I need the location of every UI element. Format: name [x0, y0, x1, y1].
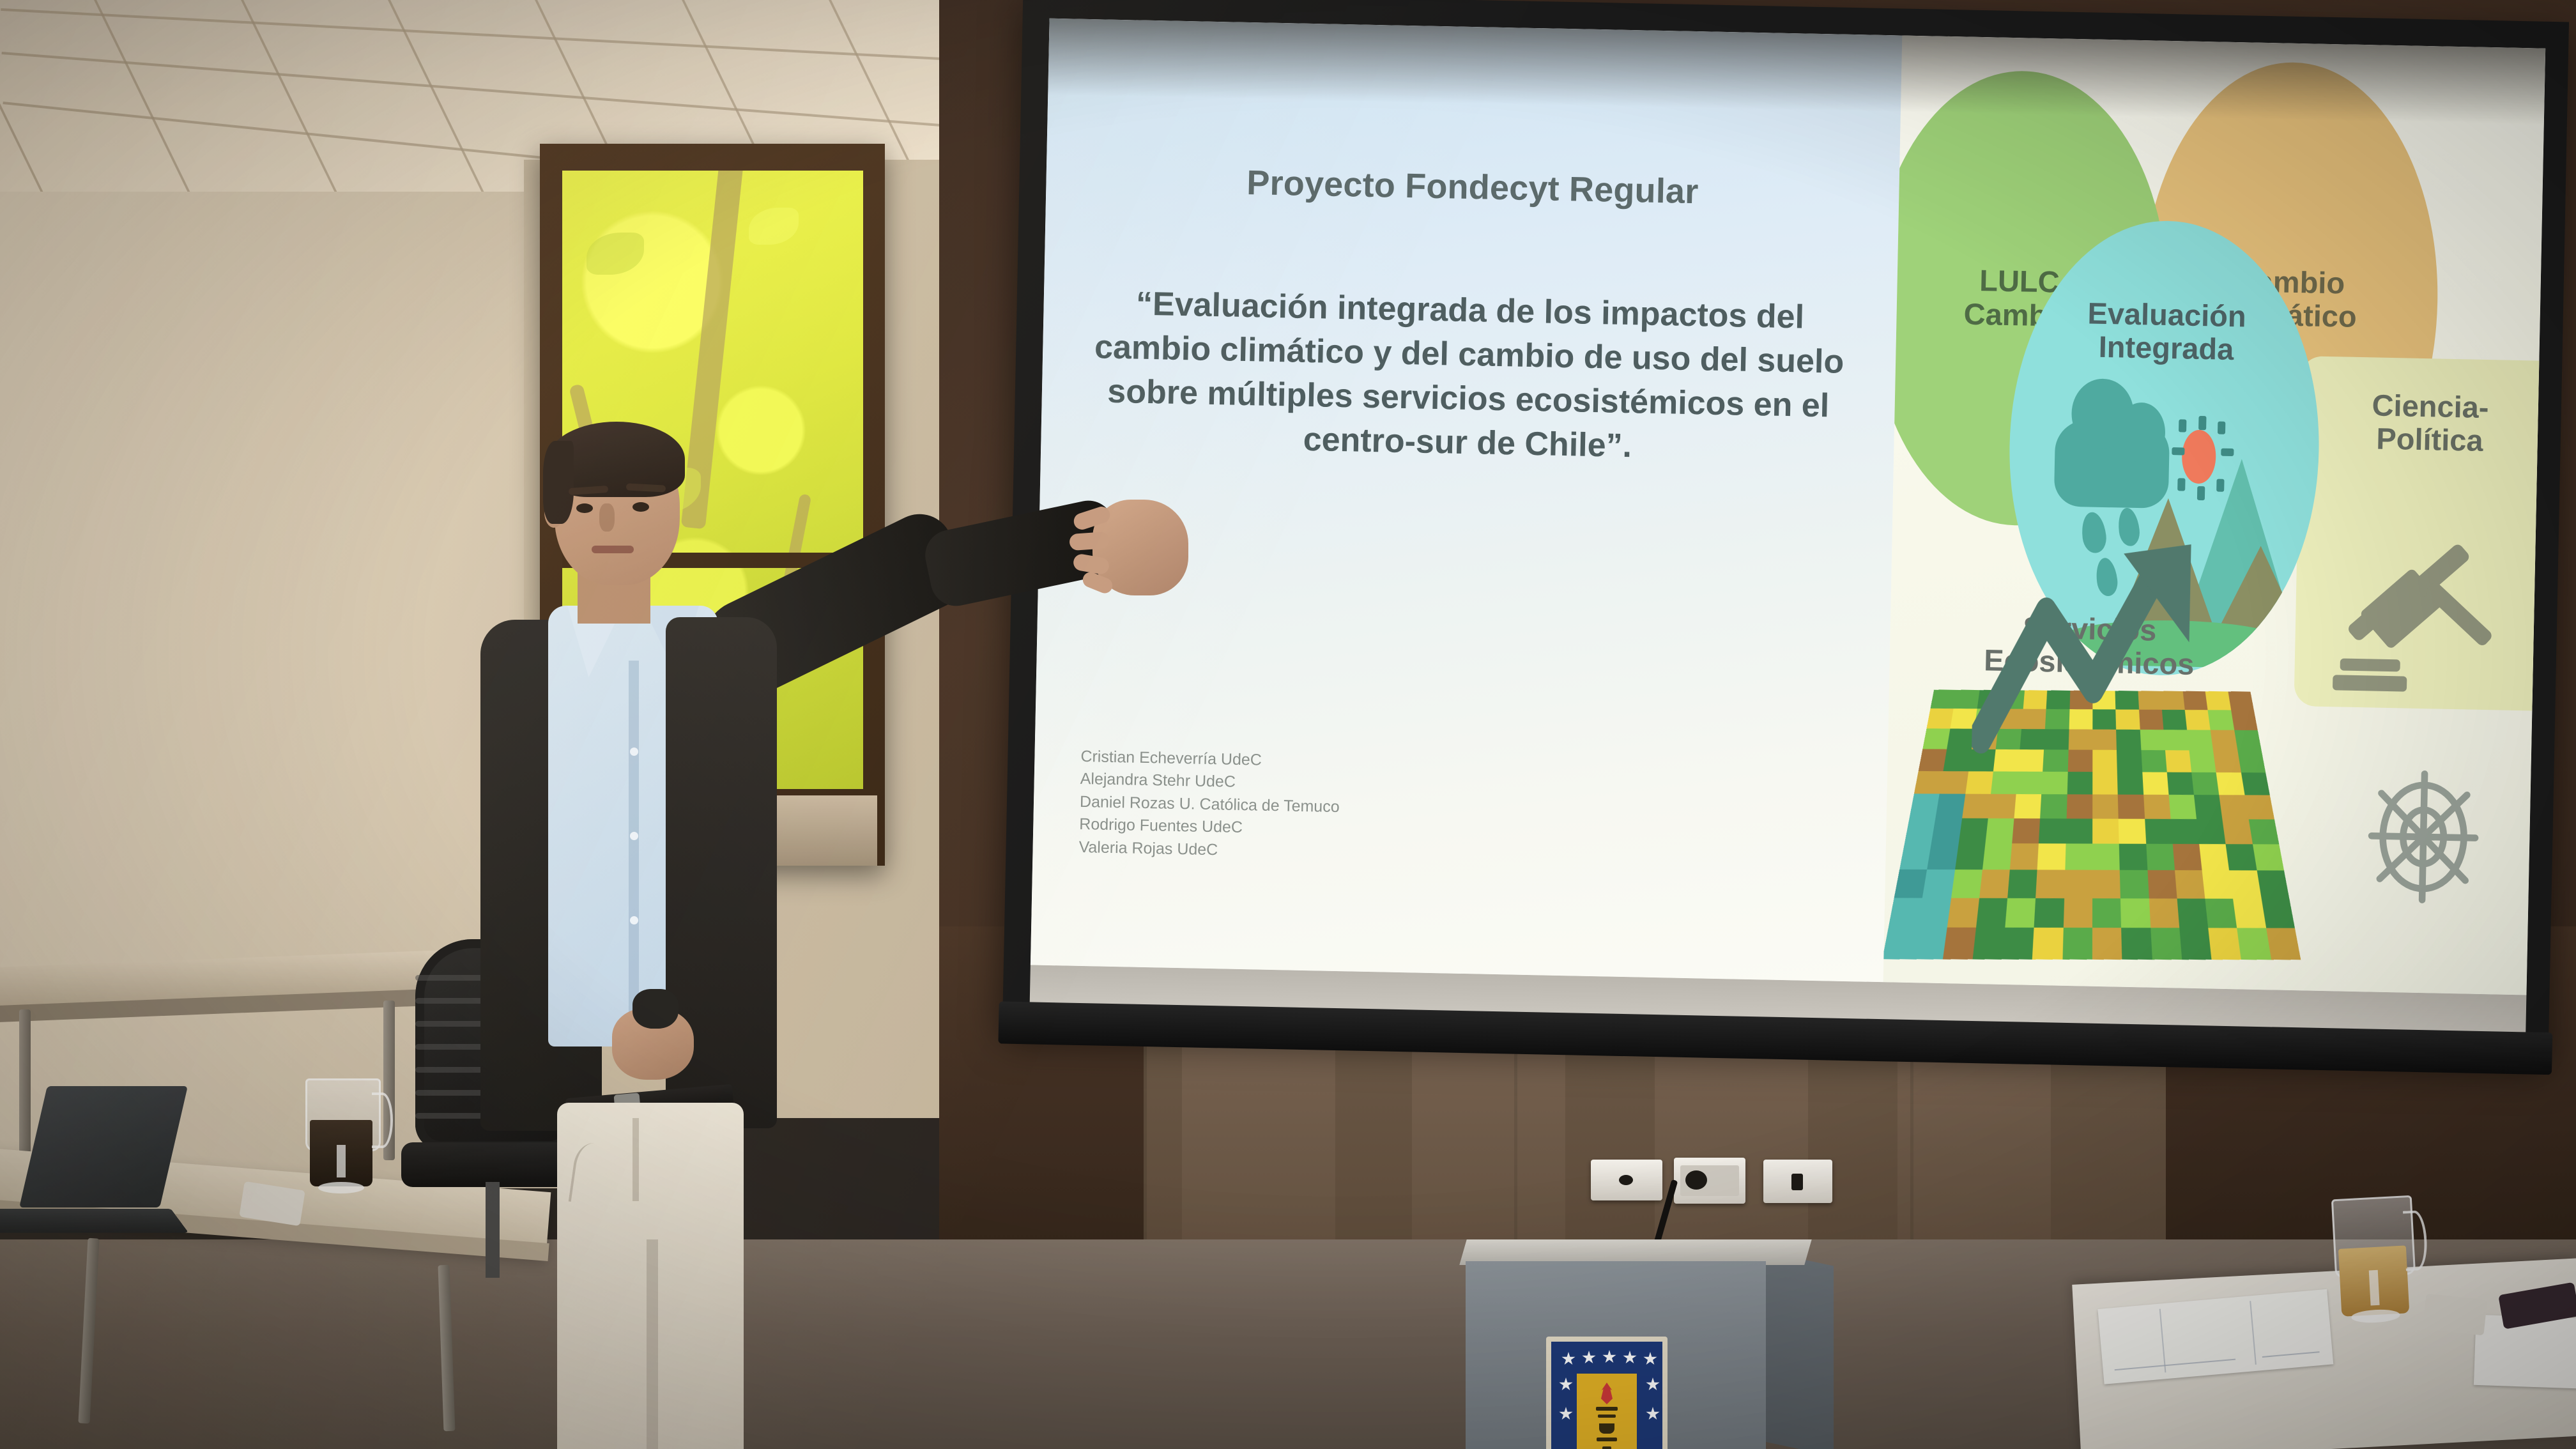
light-switch-plate[interactable] — [1591, 1160, 1662, 1200]
podium-front — [1466, 1261, 1766, 1449]
coffee-glass-left[interactable] — [305, 1078, 377, 1193]
presenter-pointing-hand — [1092, 500, 1188, 595]
power-outlet-plate[interactable] — [1674, 1158, 1745, 1204]
bubble-eval-line-1: Evaluación — [2012, 295, 2321, 335]
slide-quote: “Evaluación integrada de los impactos de… — [1066, 280, 1871, 473]
slide-title: Proyecto Fondecyt Regular — [1046, 159, 1899, 216]
card-policy-line-1: Ciencia- — [2300, 388, 2545, 426]
compass-target-icon — [2354, 746, 2493, 928]
data-jack-plate[interactable] — [1763, 1160, 1832, 1203]
presentation-clicker[interactable] — [632, 989, 678, 1029]
bubble-eval-line-2: Integrada — [2011, 328, 2320, 368]
napkin — [2423, 1294, 2487, 1336]
printed-paper[interactable] — [2097, 1289, 2333, 1384]
laptop-lid — [19, 1086, 188, 1207]
presenter — [441, 402, 914, 1449]
projection-screen: Proyecto Fondecyt Regular “Evaluación in… — [1002, 0, 2569, 1057]
cloud-icon — [2054, 420, 2170, 509]
card-policy-line-2: Política — [2299, 420, 2545, 459]
laptop[interactable] — [0, 1086, 211, 1252]
card-ciencia-politica: Ciencia- Política — [2294, 356, 2545, 712]
podium-side — [1765, 1252, 1834, 1449]
printed-paper[interactable] — [2474, 1315, 2576, 1390]
author-5: Valeria Rojas UdeC — [1078, 836, 1338, 864]
slide-left-panel: Proyecto Fondecyt Regular “Evaluación in… — [1031, 19, 1902, 982]
universidad-de-concepcion-crest — [1546, 1337, 1667, 1449]
slide-canvas: Proyecto Fondecyt Regular “Evaluación in… — [1031, 19, 2545, 995]
slide-author-list: Cristian Echeverría UdeC Alejandra Stehr… — [1078, 745, 1340, 864]
sun-icon — [2182, 430, 2216, 484]
podium — [1463, 1239, 1834, 1449]
table-front-right — [2072, 1259, 2576, 1449]
juice-glass-right[interactable] — [2331, 1195, 2414, 1324]
upward-trend-arrow-icon — [1972, 530, 2208, 762]
torch-flame-icon — [1597, 1383, 1616, 1404]
slide-right-panel: LULC Cambio Cambio Climático Evaluación … — [1883, 36, 2546, 995]
gavel-icon — [2340, 553, 2518, 697]
laptop-keyboard[interactable] — [0, 1209, 188, 1232]
conference-room-photo: Proyecto Fondecyt Regular “Evaluación in… — [0, 0, 2576, 1449]
